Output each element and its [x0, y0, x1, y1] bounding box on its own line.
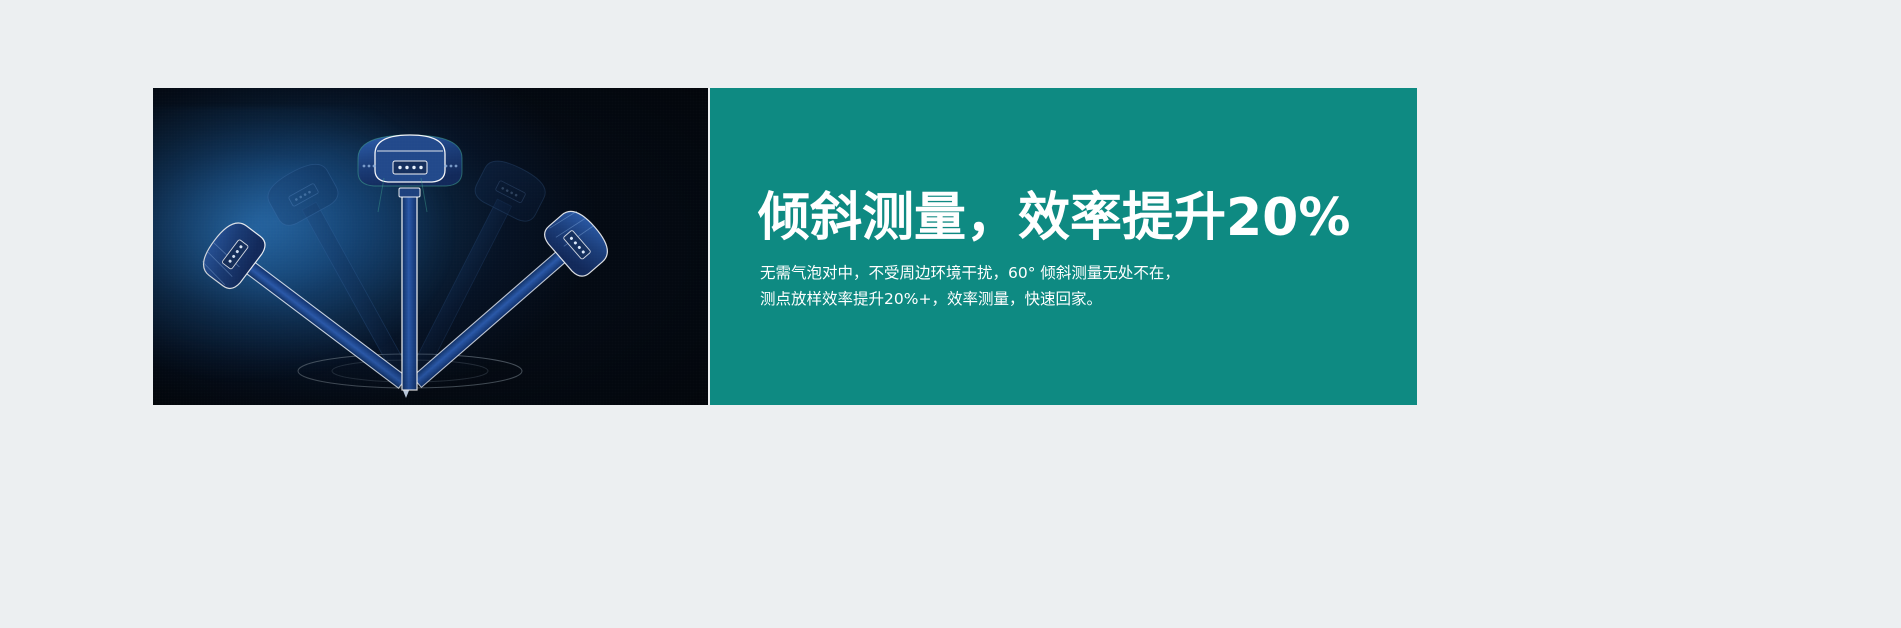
feature-banner: 倾斜测量，效率提升20% 无需气泡对中，不受周边环境干扰，60° 倾斜测量无处不…: [0, 0, 1901, 628]
copy-panel: 倾斜测量，效率提升20% 无需气泡对中，不受周边环境干扰，60° 倾斜测量无处不…: [710, 88, 1417, 405]
body-line-2: 测点放样效率提升20%+，效率测量，快速回家。: [760, 286, 1180, 312]
product-illustration-panel: [153, 88, 708, 405]
headline: 倾斜测量，效率提升20%: [758, 191, 1350, 246]
copy-inner: 倾斜测量，效率提升20% 无需气泡对中，不受周边环境干扰，60° 倾斜测量无处不…: [758, 88, 1391, 405]
body-line-1: 无需气泡对中，不受周边环境干扰，60° 倾斜测量无处不在，: [760, 260, 1180, 286]
body-copy: 无需气泡对中，不受周边环境干扰，60° 倾斜测量无处不在， 测点放样效率提升20…: [760, 260, 1180, 312]
illustration-grain: [153, 88, 708, 405]
